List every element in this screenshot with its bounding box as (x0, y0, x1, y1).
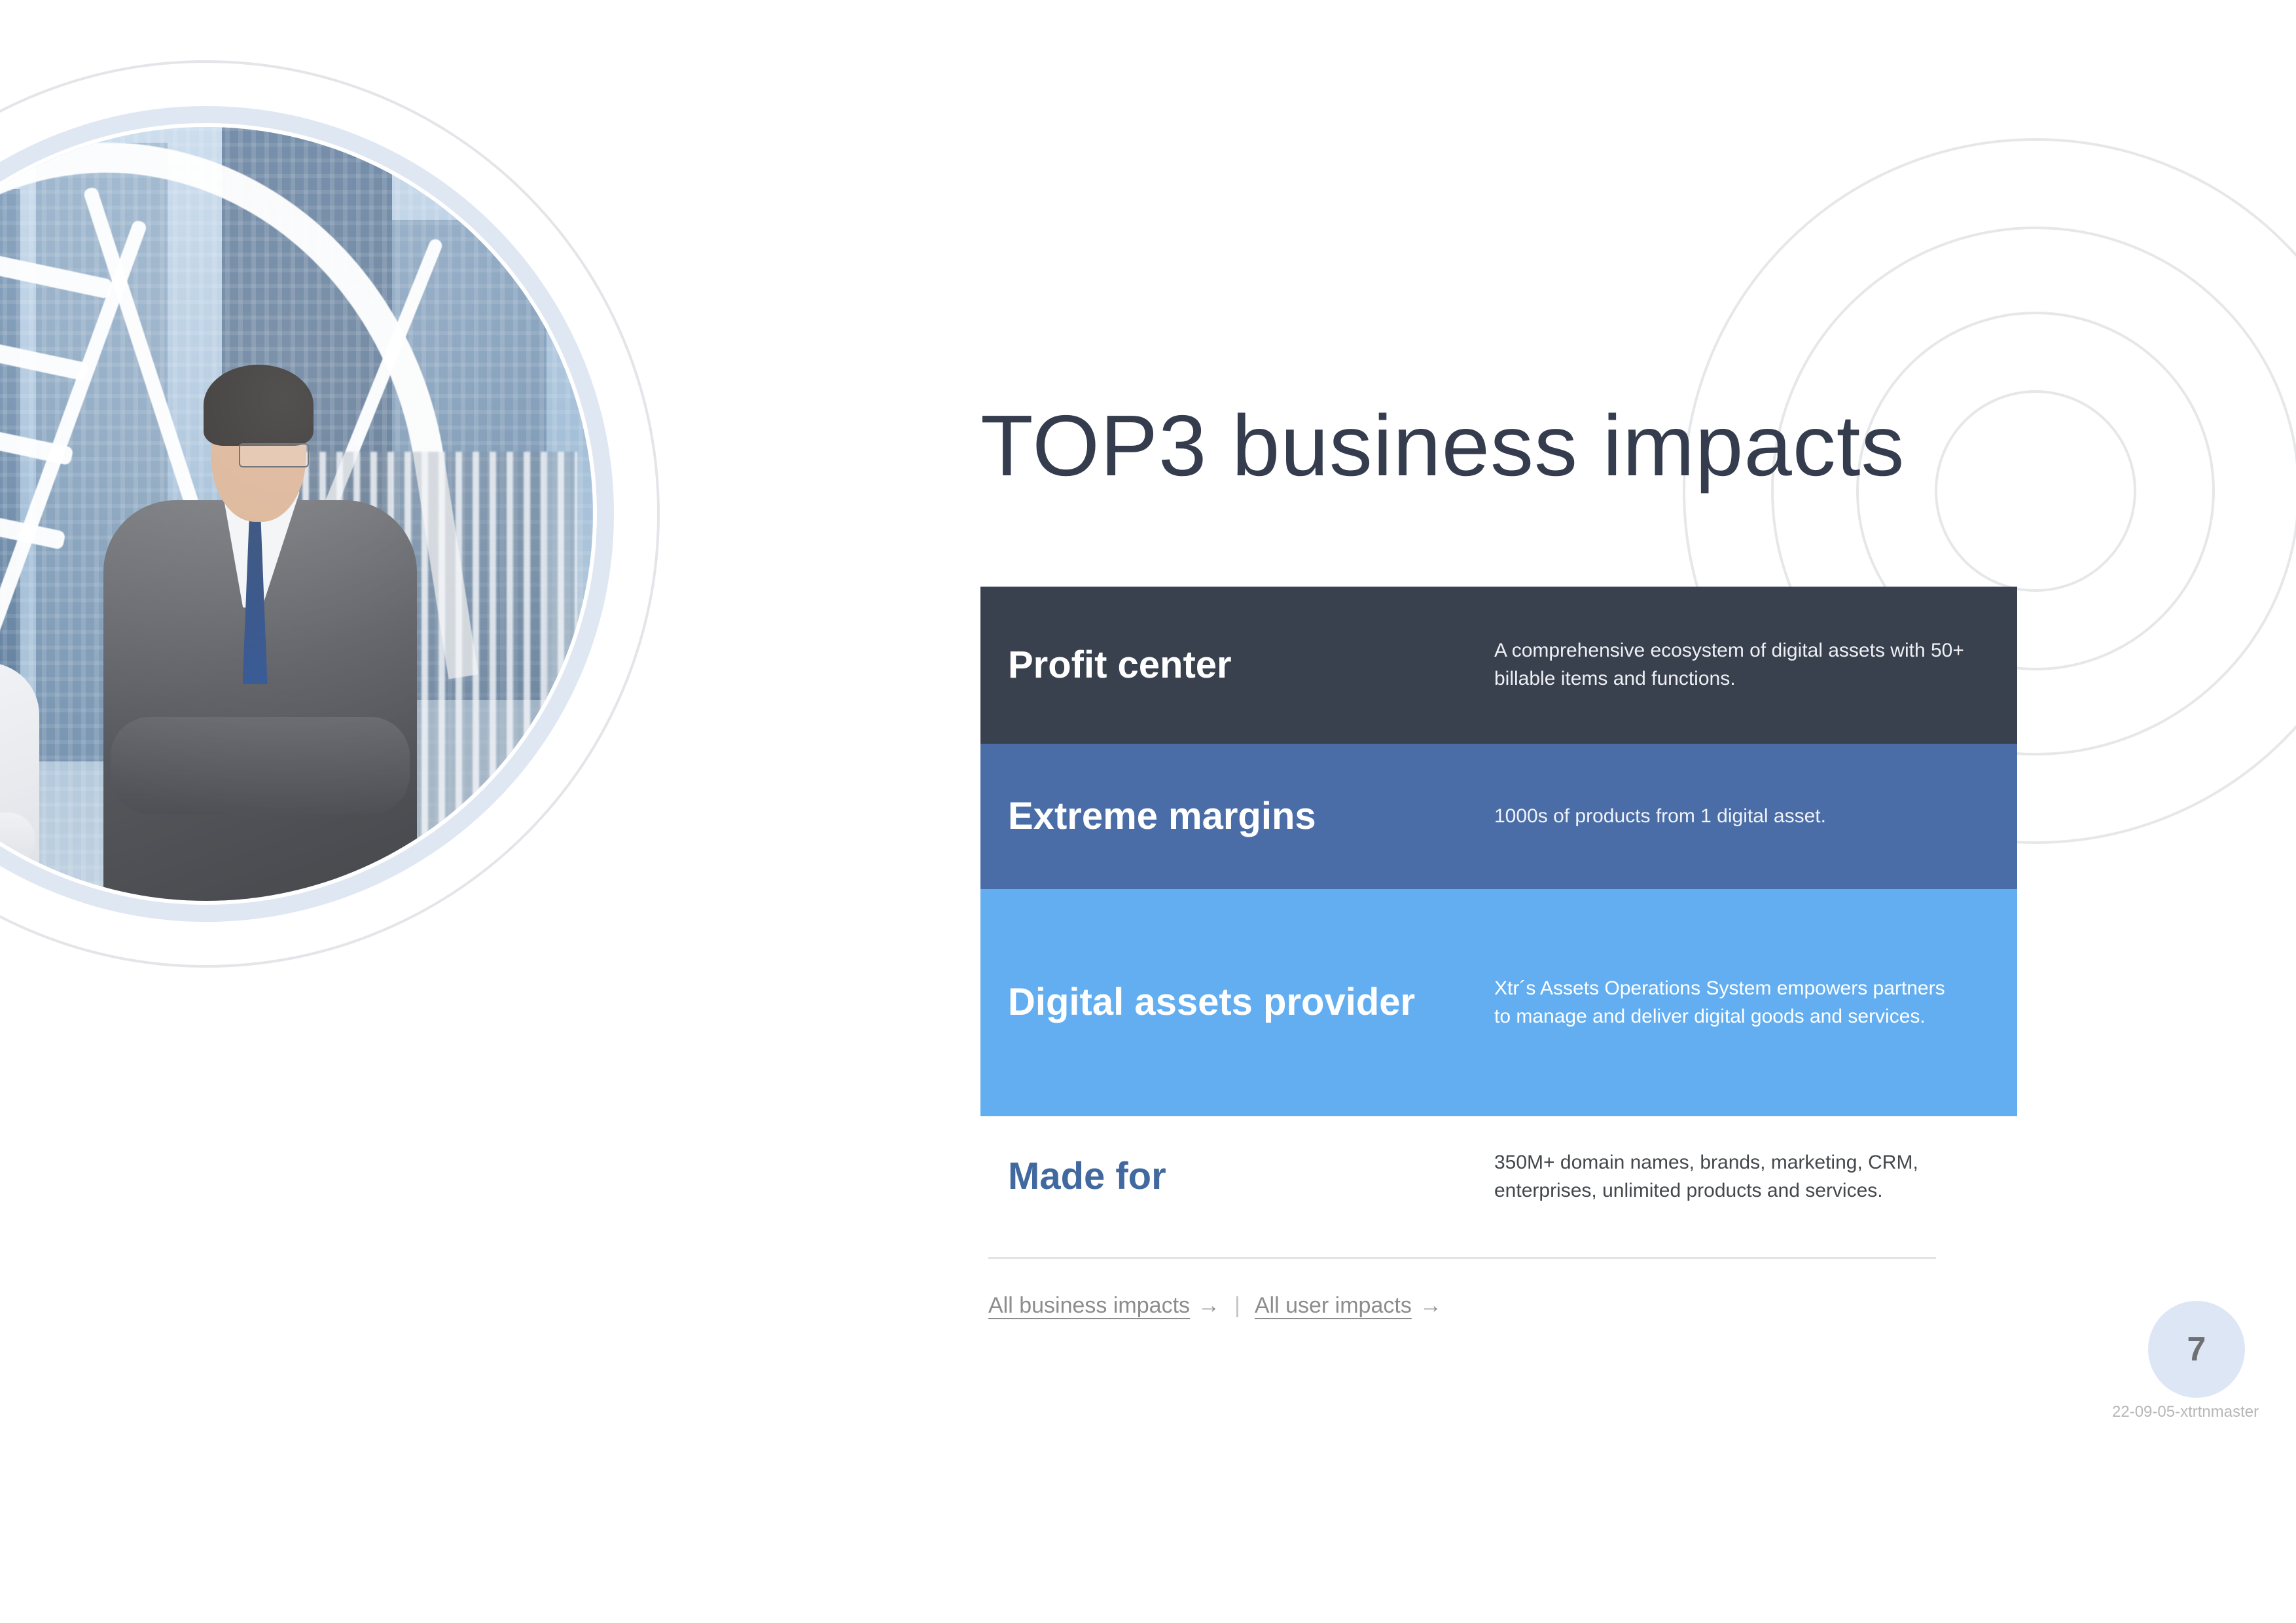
footer-divider (988, 1257, 1936, 1259)
impact-description: 350M+ domain names, brands, marketing, C… (1494, 1149, 2017, 1205)
impact-heading: Profit center (980, 644, 1494, 687)
link-all-business-impacts[interactable]: All business impacts (988, 1293, 1190, 1319)
links-separator: | (1234, 1293, 1240, 1319)
impact-heading: Extreme margins (980, 795, 1494, 838)
ring-inner-icon (1935, 390, 2136, 592)
slide: TOP3 business impacts Profit center A co… (0, 0, 2296, 1623)
impact-heading: Made for (980, 1156, 1494, 1198)
photo-highlight-overlay (0, 127, 593, 901)
impact-description: A comprehensive ecosystem of digital ass… (1494, 637, 2017, 693)
page-number-badge: 7 (2148, 1301, 2245, 1398)
arrow-right-icon: → (1420, 1293, 1442, 1319)
link-all-user-impacts[interactable]: All user impacts (1255, 1293, 1412, 1319)
arrow-right-icon: → (1198, 1293, 1220, 1319)
impact-bands-list: Profit center A comprehensive ecosystem … (980, 587, 2017, 1237)
impact-heading: Digital assets provider (980, 981, 1494, 1024)
footer-links: All business impacts → | All user impact… (988, 1293, 1442, 1319)
page-title: TOP3 business impacts (980, 403, 1905, 489)
impact-row-profit-center: Profit center A comprehensive ecosystem … (980, 587, 2017, 744)
impact-description: 1000s of products from 1 digital asset. (1494, 803, 2017, 831)
hero-photo (0, 79, 641, 949)
impact-description: Xtr´s Assets Operations System empowers … (1494, 975, 2017, 1030)
impact-row-digital-assets-provider: Digital assets provider Xtr´s Assets Ope… (980, 889, 2017, 1116)
impact-row-extreme-margins: Extreme margins 1000s of products from 1… (980, 744, 2017, 889)
footer-note: 22-09-05-xtrtnmaster (2112, 1403, 2259, 1421)
photo-businessman-and-boy (0, 127, 593, 901)
impact-row-made-for: Made for 350M+ domain names, brands, mar… (980, 1116, 2017, 1237)
